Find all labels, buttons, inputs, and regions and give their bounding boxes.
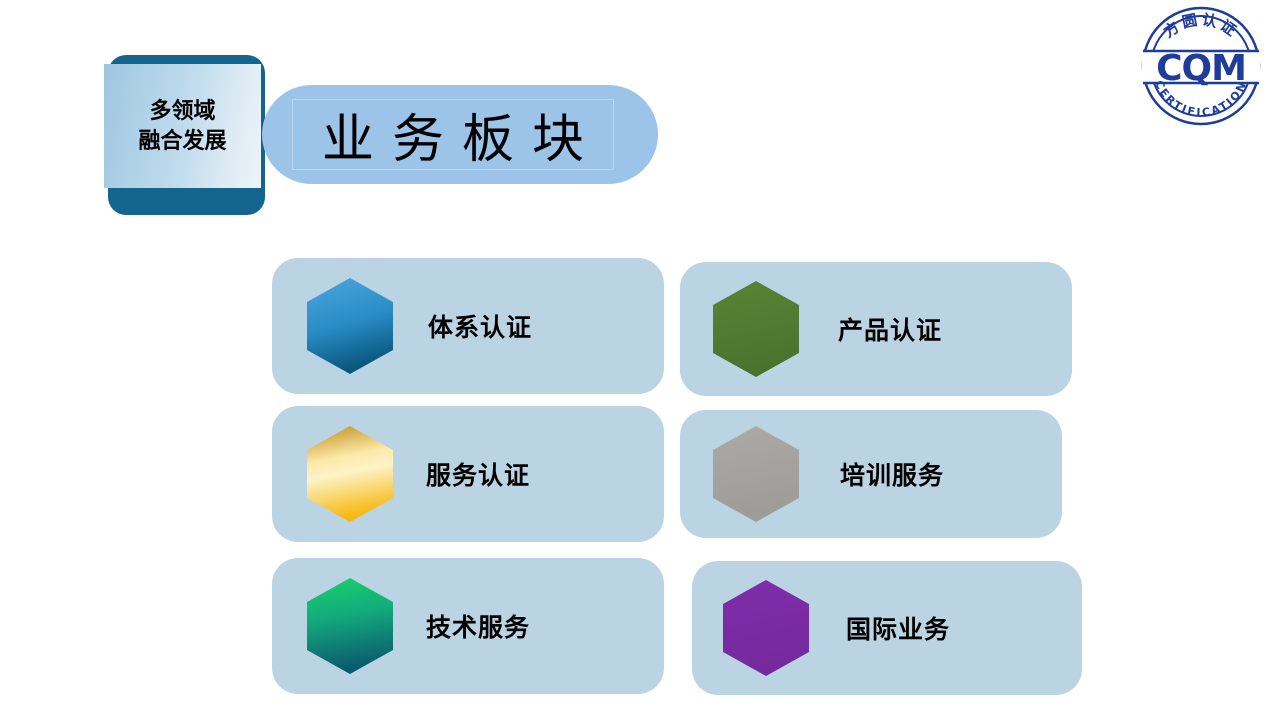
- segment-card-technical-service[interactable]: 技术服务: [272, 558, 664, 694]
- segment-label: 服务认证: [426, 456, 530, 492]
- badge-line-1: 多领域: [149, 99, 215, 123]
- segment-label: 培训服务: [840, 456, 944, 492]
- hexagon-icon: [712, 280, 800, 378]
- title-inner-frame: 业务板块: [292, 99, 614, 170]
- badge-line-2: 融合发展: [138, 129, 226, 153]
- segment-label: 体系认证: [428, 308, 532, 344]
- hexagon-icon: [712, 425, 800, 523]
- segment-label: 技术服务: [426, 608, 530, 644]
- cqm-certification-logo: CQM 方圆认证 CERTIFICATION: [1136, 4, 1266, 128]
- segment-card-service-certification[interactable]: 服务认证: [272, 406, 664, 542]
- segment-label: 国际业务: [846, 610, 950, 646]
- segment-card-system-certification[interactable]: 体系认证: [272, 258, 664, 394]
- segment-card-international-business[interactable]: 国际业务: [692, 561, 1082, 695]
- hexagon-icon: [306, 277, 394, 375]
- hexagon-icon: [722, 579, 810, 677]
- segment-card-training-service[interactable]: 培训服务: [680, 410, 1062, 538]
- slide-header: 多领域 融合发展 业务板块 CQM 方圆认证: [0, 0, 1280, 240]
- svg-text:CQM: CQM: [1156, 48, 1246, 89]
- hexagon-icon: [306, 577, 394, 675]
- segment-label: 产品认证: [838, 311, 942, 347]
- segment-card-product-certification[interactable]: 产品认证: [680, 262, 1072, 396]
- hexagon-icon: [306, 425, 394, 523]
- section-title-banner: 业务板块: [262, 85, 658, 184]
- badge-panel: 多领域 融合发展: [104, 64, 261, 188]
- page-title: 业务板块: [304, 97, 602, 172]
- business-segments-grid: 体系认证 产品认证: [0, 258, 1280, 708]
- multi-domain-badge: 多领域 融合发展: [108, 55, 265, 215]
